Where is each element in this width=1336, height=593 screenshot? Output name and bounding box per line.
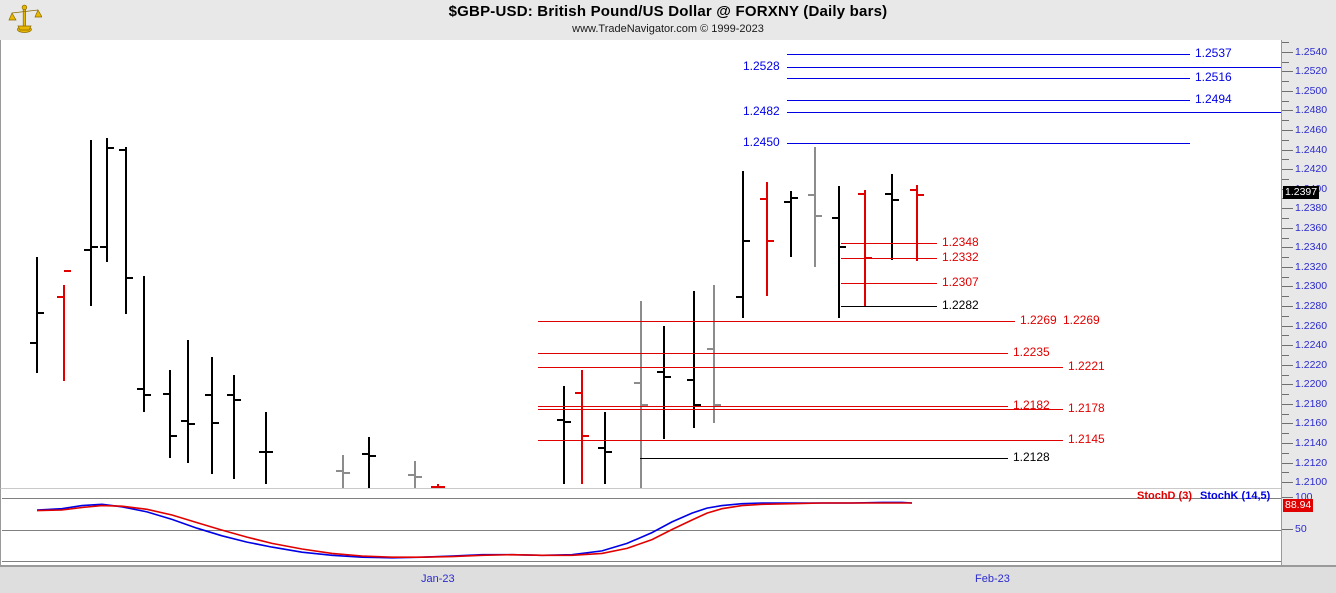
price-axis-label: 1.2220	[1295, 360, 1327, 370]
price-axis-minor-tick	[1282, 316, 1289, 317]
price-axis-tick	[1282, 306, 1293, 307]
price-axis-label: 1.2380	[1295, 203, 1327, 213]
ohlc-bar-stem	[106, 138, 108, 262]
ohlc-close-tick	[91, 246, 98, 248]
price-axis-tick	[1282, 423, 1293, 424]
price-axis-minor-tick	[1282, 101, 1289, 102]
price-axis-tick	[1282, 345, 1293, 346]
ohlc-close-tick	[743, 240, 750, 242]
ohlc-open-tick	[84, 249, 91, 251]
price-axis-tick	[1282, 384, 1293, 385]
ohlc-bar-stem	[814, 147, 816, 267]
price-level-label: 1.2221	[1068, 360, 1105, 372]
ohlc-close-tick	[266, 451, 273, 453]
price-level-line	[787, 78, 1190, 79]
price-axis-minor-tick	[1282, 375, 1289, 376]
ohlc-close-tick	[144, 394, 151, 396]
price-level-label: 1.2269	[1063, 314, 1100, 326]
price-axis-tick	[1282, 228, 1293, 229]
price-axis-label: 1.2360	[1295, 223, 1327, 233]
price-axis-minor-tick	[1282, 120, 1289, 121]
ohlc-open-tick	[707, 348, 714, 350]
price-axis-tick	[1282, 326, 1293, 327]
date-axis-label: Jan-23	[421, 573, 455, 585]
price-level-label: 1.2235	[1013, 346, 1050, 358]
ohlc-open-tick	[598, 447, 605, 449]
ohlc-close-tick	[126, 277, 133, 279]
price-axis-label: 1.2100	[1295, 477, 1327, 487]
ohlc-bar-stem	[916, 185, 918, 261]
price-axis-tick	[1282, 208, 1293, 209]
ohlc-bar-stem	[125, 147, 127, 314]
price-level-label: 1.2528	[743, 60, 780, 72]
date-axis-label: Feb-23	[975, 573, 1010, 585]
price-axis-minor-tick	[1282, 218, 1289, 219]
ohlc-open-tick	[362, 453, 369, 455]
ohlc-open-tick	[557, 419, 564, 421]
ohlc-open-tick	[408, 474, 415, 476]
ohlc-close-tick	[64, 270, 71, 272]
ohlc-open-tick	[634, 382, 641, 384]
page-title: $GBP-USD: British Pound/US Dollar @ FORX…	[0, 3, 1336, 20]
price-axis-label: 1.2440	[1295, 145, 1327, 155]
ohlc-open-tick	[259, 451, 266, 453]
ohlc-bar-stem	[265, 412, 267, 484]
ohlc-bar-stem	[368, 437, 370, 488]
price-level-line	[787, 112, 1282, 113]
price-axis-tick	[1282, 150, 1293, 151]
price-axis-label: 1.2300	[1295, 281, 1327, 291]
ohlc-open-tick	[57, 296, 64, 298]
ohlc-close-tick	[791, 197, 798, 199]
ohlc-bar-stem	[563, 386, 565, 484]
price-axis-label: 1.2480	[1295, 105, 1327, 115]
ohlc-close-tick	[605, 451, 612, 453]
price-level-label: 1.2494	[1195, 93, 1232, 105]
price-axis-tick	[1282, 71, 1293, 72]
ohlc-close-tick	[37, 312, 44, 314]
ohlc-close-tick	[892, 199, 899, 201]
price-axis-label: 1.2280	[1295, 301, 1327, 311]
price-level-label: 1.2450	[743, 136, 780, 148]
price-axis-label: 1.2540	[1295, 47, 1327, 57]
price-axis-tick	[1282, 365, 1293, 366]
ohlc-close-tick	[815, 215, 822, 217]
price-level-line	[640, 458, 1008, 459]
ohlc-open-tick	[760, 198, 767, 200]
price-level-label: 1.2178	[1068, 402, 1105, 414]
ohlc-open-tick	[808, 194, 815, 196]
price-axis-tick	[1282, 286, 1293, 287]
price-level-line	[787, 100, 1190, 101]
ohlc-close-tick	[343, 472, 350, 474]
price-axis-tick	[1282, 463, 1293, 464]
current-price-badge: 1.2397	[1283, 186, 1319, 199]
ohlc-open-tick	[832, 217, 839, 219]
ohlc-bar-stem	[143, 276, 145, 412]
ohlc-close-tick	[107, 147, 114, 149]
price-axis-label: 1.2240	[1295, 340, 1327, 350]
ohlc-close-tick	[767, 240, 774, 242]
price-axis-tick	[1282, 443, 1293, 444]
ohlc-open-tick	[687, 379, 694, 381]
price-axis-label: 1.2420	[1295, 164, 1327, 174]
ohlc-bar-stem	[663, 326, 665, 439]
price-axis-tick	[1282, 267, 1293, 268]
price-axis-label: 1.2120	[1295, 458, 1327, 468]
ohlc-close-tick	[564, 421, 571, 423]
price-axis-label: 1.2180	[1295, 399, 1327, 409]
ohlc-bar-stem	[187, 340, 189, 462]
ohlc-open-tick	[137, 388, 144, 390]
price-axis-minor-tick	[1282, 296, 1289, 297]
price-axis-label: 1.2500	[1295, 86, 1327, 96]
price-level-label: 1.2145	[1068, 433, 1105, 445]
ohlc-close-tick	[917, 194, 924, 196]
ohlc-bar-stem	[640, 301, 642, 488]
price-level-label: 1.2282	[942, 299, 979, 311]
ohlc-bar-stem	[63, 285, 65, 382]
ohlc-bar-stem	[864, 190, 866, 306]
price-axis-minor-tick	[1282, 81, 1289, 82]
ohlc-open-tick	[181, 420, 188, 422]
ohlc-close-tick	[415, 476, 422, 478]
ohlc-open-tick	[163, 393, 170, 395]
price-axis-minor-tick	[1282, 433, 1289, 434]
price-level-line	[538, 440, 1063, 441]
stochastic-axis-tick	[1282, 497, 1293, 498]
price-chart-panel[interactable]: 1.25371.25281.25161.24941.24821.24501.23…	[0, 40, 1281, 488]
price-level-line	[841, 306, 937, 307]
price-level-line	[538, 406, 1008, 407]
stochastic-axis-label: 50	[1295, 524, 1307, 534]
price-axis-minor-tick	[1282, 335, 1289, 336]
price-axis-label: 1.2320	[1295, 262, 1327, 272]
price-axis-minor-tick	[1282, 394, 1289, 395]
price-level-line	[787, 67, 1282, 68]
price-level-label: 1.2348	[942, 236, 979, 248]
ohlc-bar-stem	[90, 140, 92, 306]
price-axis-minor-tick	[1282, 472, 1289, 473]
price-axis-tick	[1282, 247, 1293, 248]
price-axis-tick	[1282, 169, 1293, 170]
ohlc-close-tick	[582, 435, 589, 437]
ohlc-open-tick	[736, 296, 743, 298]
ohlc-close-tick	[664, 376, 671, 378]
price-axis-label: 1.2520	[1295, 66, 1327, 76]
ohlc-open-tick	[119, 149, 126, 151]
date-axis[interactable]: Jan-23Feb-23	[0, 565, 1336, 593]
price-axis-minor-tick	[1282, 140, 1289, 141]
ohlc-bar-stem	[169, 370, 171, 458]
stochastic-series-line	[37, 502, 912, 557]
stochastic-axis-tick	[1282, 529, 1293, 530]
price-level-label: 1.2516	[1195, 71, 1232, 83]
ohlc-close-tick	[369, 455, 376, 457]
price-axis-tick	[1282, 130, 1293, 131]
ohlc-bar-stem	[838, 186, 840, 318]
price-axis-label: 1.2260	[1295, 321, 1327, 331]
ohlc-bar-stem	[233, 375, 235, 480]
price-axis-minor-tick	[1282, 62, 1289, 63]
chart-header: $GBP-USD: British Pound/US Dollar @ FORX…	[0, 0, 1336, 40]
ohlc-open-tick	[336, 470, 343, 472]
ohlc-open-tick	[227, 394, 234, 396]
chart-subtitle: www.TradeNavigator.com © 1999-2023	[0, 23, 1336, 35]
ohlc-open-tick	[30, 342, 37, 344]
price-axis-tick	[1282, 110, 1293, 111]
price-level-label: 1.2332	[942, 251, 979, 263]
price-level-line	[841, 258, 937, 259]
price-axis-tick	[1282, 482, 1293, 483]
ohlc-open-tick	[657, 371, 664, 373]
price-level-line	[538, 321, 1015, 322]
ohlc-open-tick	[858, 193, 865, 195]
price-axis-minor-tick	[1282, 414, 1289, 415]
ohlc-close-tick	[839, 246, 846, 248]
price-axis-label: 1.2160	[1295, 418, 1327, 428]
price-axis-minor-tick	[1282, 453, 1289, 454]
price-level-line	[538, 353, 1008, 354]
price-axis-minor-tick	[1282, 159, 1289, 160]
price-level-line	[787, 54, 1190, 55]
ohlc-open-tick	[784, 201, 791, 203]
price-level-line	[787, 143, 1190, 144]
price-axis-tick	[1282, 52, 1293, 53]
ohlc-bar-stem	[211, 357, 213, 474]
price-axis-minor-tick	[1282, 277, 1289, 278]
price-axis-tick	[1282, 91, 1293, 92]
stoch-k-legend: StochK (14,5)	[1200, 490, 1270, 502]
price-axis-label: 1.2200	[1295, 379, 1327, 389]
price-axis-label: 1.2340	[1295, 242, 1327, 252]
price-level-label: 1.2482	[743, 105, 780, 117]
ohlc-open-tick	[575, 392, 582, 394]
price-axis-minor-tick	[1282, 238, 1289, 239]
ohlc-close-tick	[170, 435, 177, 437]
price-level-line	[538, 409, 1063, 410]
price-axis-label: 1.2140	[1295, 438, 1327, 448]
price-level-label: 1.2269	[1020, 314, 1057, 326]
price-axis-minor-tick	[1282, 42, 1289, 43]
price-level-line	[841, 243, 937, 244]
ohlc-bar-stem	[36, 257, 38, 372]
price-axis-minor-tick	[1282, 257, 1289, 258]
ohlc-close-tick	[234, 399, 241, 401]
ohlc-bar-stem	[581, 370, 583, 484]
stochastic-series-line	[37, 503, 912, 557]
ohlc-bar-stem	[891, 174, 893, 260]
ohlc-open-tick	[100, 246, 107, 248]
price-axis[interactable]: 1.25401.25201.25001.24801.24601.24401.24…	[1281, 40, 1336, 488]
price-axis-label: 1.2460	[1295, 125, 1327, 135]
ohlc-close-tick	[188, 423, 195, 425]
stochastic-curves	[2, 489, 1282, 566]
stochastic-axis[interactable]: 10050 88.94	[1281, 488, 1336, 565]
price-level-line	[841, 283, 937, 284]
ohlc-open-tick	[885, 193, 892, 195]
ohlc-open-tick	[205, 394, 212, 396]
price-level-line	[538, 367, 1063, 368]
price-level-label: 1.2128	[1013, 451, 1050, 463]
price-axis-minor-tick	[1282, 179, 1289, 180]
price-level-label: 1.2537	[1195, 47, 1232, 59]
stochastic-panel[interactable]: StochD (3) StochK (14,5)	[0, 488, 1281, 565]
price-axis-tick	[1282, 404, 1293, 405]
price-axis-minor-tick	[1282, 355, 1289, 356]
ohlc-close-tick	[212, 422, 219, 424]
stochastic-value-badge: 88.94	[1283, 499, 1313, 512]
ohlc-bar-stem	[693, 291, 695, 428]
ohlc-open-tick	[910, 189, 917, 191]
price-level-label: 1.2307	[942, 276, 979, 288]
stoch-d-legend: StochD (3)	[1137, 490, 1192, 502]
